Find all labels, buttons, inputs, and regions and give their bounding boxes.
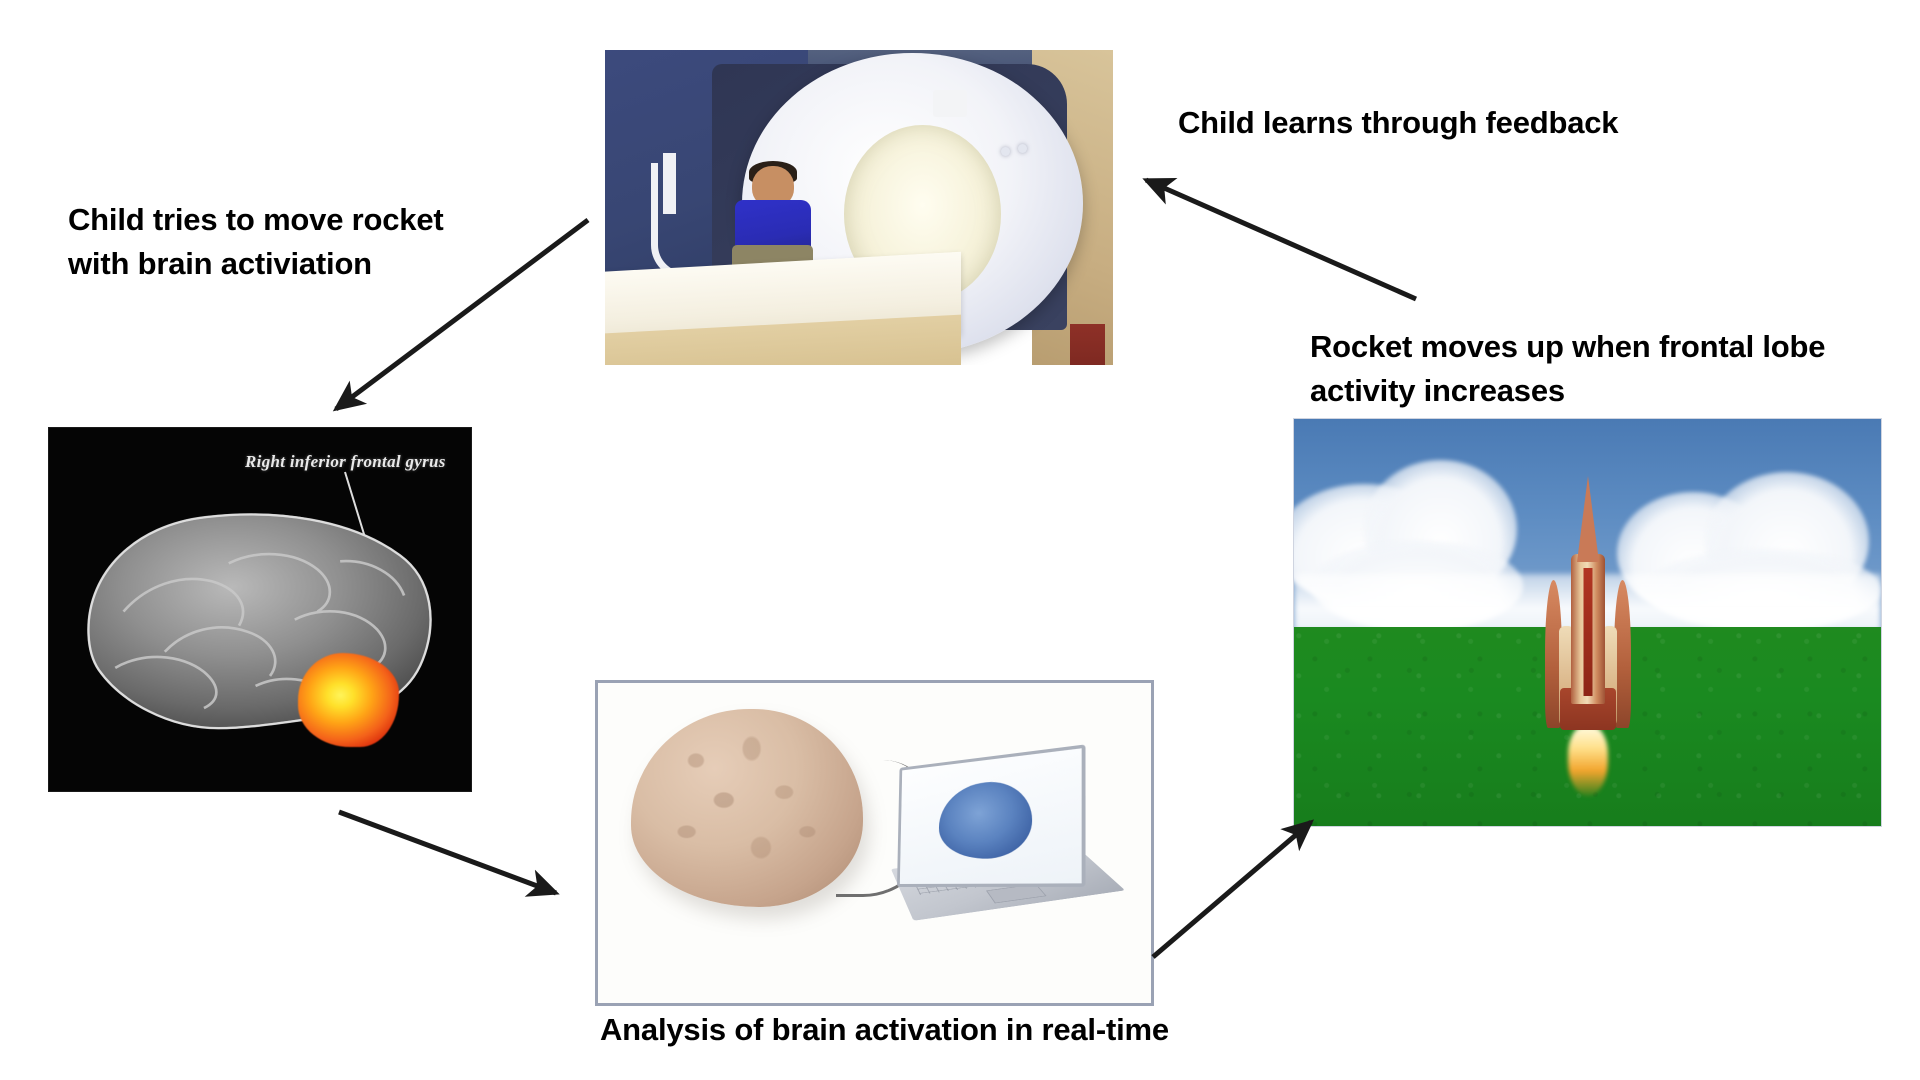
analysis-laptop-image [595,680,1154,1006]
rocket-nose-cone [1577,476,1599,562]
arrow-brain-to-lab [339,812,556,893]
rocket-stripe [1583,568,1592,696]
rocket-flame [1568,726,1608,796]
laptop-screen [897,745,1085,888]
arrow-rocket-to-mri [1146,180,1416,299]
mri-control-dot [1001,147,1010,156]
mri-bore-light [933,90,967,117]
mri-control-dot [1018,144,1027,153]
brain-region-annotation: Right inferior frontal gyrus [245,452,446,472]
rocket-game-image [1293,418,1882,827]
label-child-tries-to-move-rocket: Child tries to move rocket with brain ac… [68,198,444,286]
label-child-learns-through-feedback: Child learns through feedback [1178,101,1618,145]
brain-gyri-texture [631,709,863,907]
arrow-lab-to-rocket [1153,822,1311,957]
mri-scanner-image [605,50,1113,392]
model-brain [631,709,863,907]
activation-blob [298,653,399,747]
mri-coil-arm [651,163,719,279]
rocket-sprite [1533,476,1643,766]
on-screen-brain-scan [938,778,1032,861]
mri-coil-stem [663,153,675,215]
mri-floor [605,365,1113,392]
label-analysis-of-brain-activation: Analysis of brain activation in real-tim… [600,1008,1169,1052]
diagram-canvas: Right inferior frontal gyrus [0,0,1920,1080]
brain-activation-image: Right inferior frontal gyrus [48,427,472,792]
label-rocket-moves-up: Rocket moves up when frontal lobe activi… [1310,325,1825,413]
